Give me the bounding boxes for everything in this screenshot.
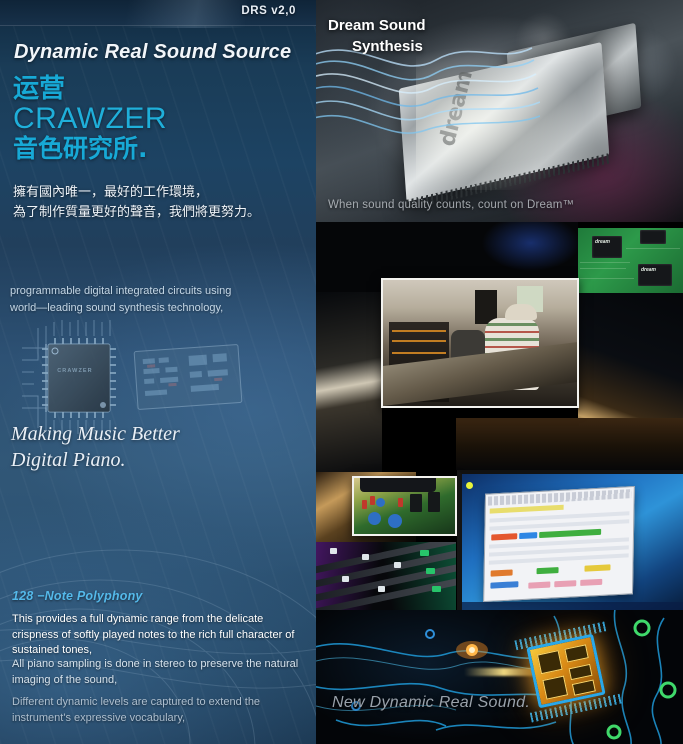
hero-caption: When sound quality counts, count on Drea… [328, 199, 574, 211]
fader-led-1 [420, 550, 429, 556]
photo-collage: dream dream [316, 222, 683, 610]
editor-bar-red [491, 533, 517, 540]
brand-block: 运营 CRAWZER 音色研究所. [13, 76, 167, 162]
editor-bar-pink-2 [554, 580, 576, 587]
right-media-panel: dream Dream Sound Synthesis When sound q… [316, 0, 683, 744]
technology-line-1: programmable digital integrated circuits… [10, 283, 231, 300]
circuit-board-closeup-photo [352, 476, 457, 536]
microchip-illustration [18, 318, 248, 438]
board-connector [360, 478, 436, 492]
fader-knob-3 [394, 562, 401, 568]
board-ic-1 [410, 494, 422, 512]
pcb-trace-4 [626, 248, 680, 249]
board-capacitor-1 [368, 512, 381, 525]
desktop-icon [466, 482, 473, 489]
fader-led-3 [432, 586, 441, 592]
chip-die-5 [572, 679, 596, 695]
editor-bar-green-2 [537, 567, 559, 574]
chip-brand-label: CRAWZER [48, 368, 102, 374]
pcb-trace-2 [580, 268, 626, 269]
board-resistor-2 [370, 496, 375, 505]
chip-die-3 [542, 676, 568, 700]
brand-chinese-top: 运营 [13, 76, 167, 103]
studio-engineer-cap [505, 304, 537, 320]
board-capacitor-3 [376, 498, 385, 507]
dream-chip-hero-photo: dream Dream Sound Synthesis When sound q… [316, 0, 683, 222]
technology-statement: programmable digital integrated circuits… [10, 283, 231, 317]
editor-window-screenshot [483, 486, 635, 602]
editor-bar-orange [491, 569, 513, 576]
chip-die-1 [537, 650, 563, 674]
page-title: Dynamic Real Sound Source [14, 41, 291, 64]
tagline-line-2: Digital Piano. [11, 447, 180, 473]
polyphony-paragraph-3: Different dynamic levels are captured to… [12, 695, 306, 726]
editor-bar-pink-3 [580, 579, 602, 586]
board-ic-2 [428, 492, 440, 512]
intro-line-2: 為了制作質量更好的聲音，我們將更努力。 [13, 203, 260, 223]
pcb-closeup-photo: dream dream [578, 228, 683, 293]
chip-die-4 [569, 664, 593, 680]
editor-bar-blue-2 [490, 581, 518, 588]
drs-brochure-page: DRS v2,0 Dynamic Real Sound Source 运营 CR… [0, 0, 683, 744]
editor-bar-yellow [584, 564, 610, 571]
hero-title-line-2: Synthesis [328, 37, 426, 58]
polyphony-heading: 128 −Note Polyphony [12, 589, 143, 603]
brand-chinese-bottom: 音色研究所. [13, 136, 167, 162]
intro-line-1: 擁有國內唯一，最好的工作環境， [13, 183, 260, 203]
chip-die-2 [564, 644, 588, 662]
tagline-line-1: Making Music Better [11, 421, 180, 447]
header-divider [0, 25, 316, 26]
polyphony-paragraph-2: All piano sampling is done in stereo to … [12, 657, 306, 688]
pcb-chip-label-2: dream [641, 267, 656, 273]
software-monitor-photo [457, 470, 683, 610]
version-label: DRS v2,0 [241, 5, 296, 17]
intro-paragraph: 擁有國內唯一，最好的工作環境， 為了制作質量更好的聲音，我們將更努力。 [13, 183, 260, 223]
hero-title-line-1: Dream Sound [328, 17, 426, 34]
polyphony-paragraph-1: This provides a full dynamic range from … [12, 612, 306, 659]
fader-knob-4 [342, 576, 349, 582]
neuron-network-graphic [316, 610, 683, 744]
editor-bar-pink-1 [528, 582, 550, 589]
board-capacitor-2 [388, 514, 402, 528]
collage-dark-filler-5 [456, 418, 683, 470]
left-info-panel: DRS v2,0 Dynamic Real Sound Source 运营 CR… [0, 0, 316, 744]
recording-studio-photo [381, 278, 579, 408]
pcb-trace-1 [580, 262, 630, 263]
collage-dark-filler-3 [316, 292, 382, 472]
pcb-trace-3 [580, 278, 634, 279]
pcb-chip-2 [640, 230, 666, 244]
board-resistor-3 [398, 498, 403, 507]
editor-bar-green [539, 529, 601, 538]
fader-led-2 [426, 568, 435, 574]
editor-bar-blue [519, 532, 537, 539]
technology-line-2: world—leading sound synthesis technology… [10, 300, 231, 317]
bottom-caption: New Dynamic Real Sound. [332, 694, 530, 712]
desktop-taskbar [462, 602, 683, 610]
fader-knob-5 [378, 586, 385, 592]
editor-highlight-bar [490, 505, 564, 514]
editor-toolbar [488, 489, 632, 506]
neural-network-hero-photo: New Dynamic Real Sound. [316, 610, 683, 744]
brand-name: CRAWZER [13, 104, 167, 135]
pcb-chip-label-1: dream [595, 239, 610, 245]
hero-title: Dream Sound Synthesis [328, 16, 426, 57]
mixer-faders-photo [316, 542, 456, 610]
tagline: Making Music Better Digital Piano. [11, 421, 180, 474]
fader-knob-1 [330, 548, 337, 554]
board-resistor-1 [362, 500, 367, 509]
fader-knob-2 [362, 554, 369, 560]
